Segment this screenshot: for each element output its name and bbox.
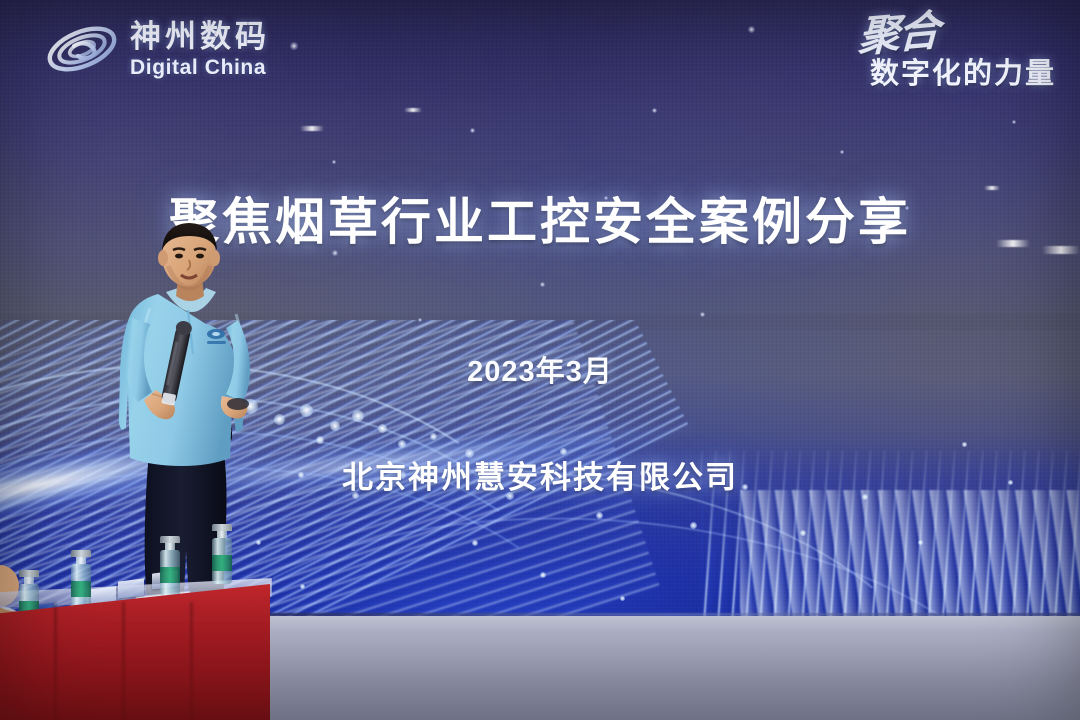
water-bottle: [71, 550, 91, 610]
water-bottle: [160, 536, 180, 596]
brand-logo: 神州数码 Digital China: [44, 16, 270, 82]
spiral-galaxy-logo-icon: [44, 16, 120, 82]
panel-table: [0, 542, 280, 720]
brand-name-cn: 神州数码: [130, 21, 270, 52]
water-bottle: [212, 524, 232, 584]
event-theme-calligraphy: 聚合: [857, 10, 938, 57]
stage-floor-sheen: [255, 616, 1080, 680]
conference-stage-photo: 神州数码 Digital China 聚合 数字化的力量 聚焦烟草行业工控安全案…: [0, 0, 1080, 720]
name-card: [118, 578, 144, 598]
brand-name-en: Digital China: [130, 57, 270, 78]
event-theme: 聚合 数字化的力量: [858, 14, 1056, 92]
